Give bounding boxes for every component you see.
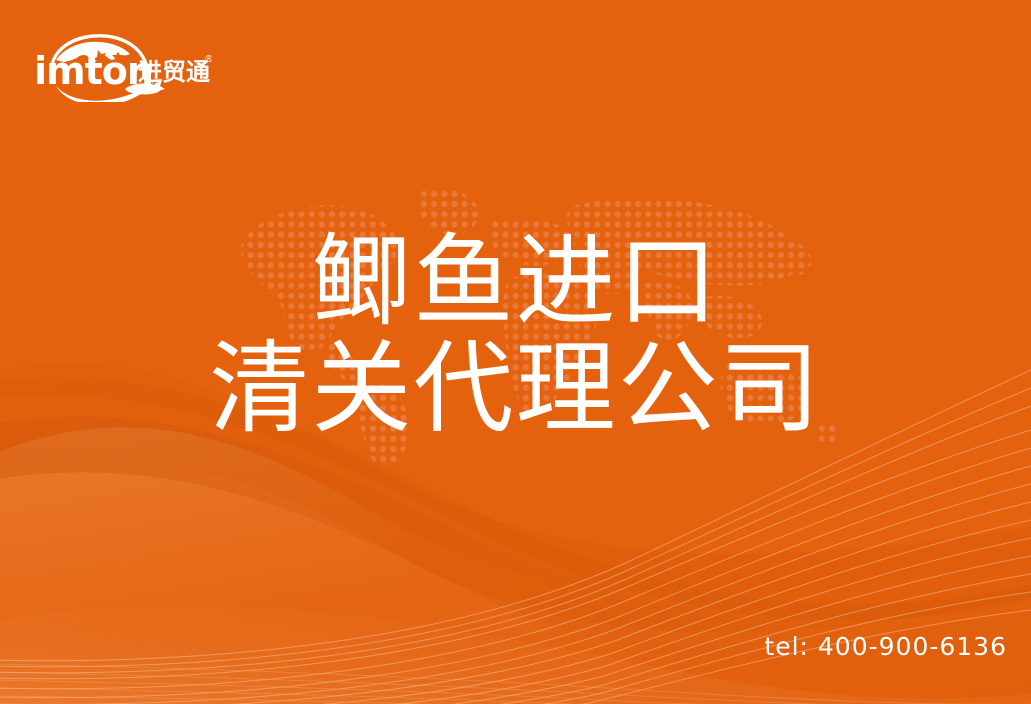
- registered-trademark-icon: ®: [204, 54, 212, 65]
- headline-line-2: 清关代理公司: [0, 335, 1031, 442]
- logo-wordmark: imton: [34, 49, 153, 93]
- headline-line-1: 鲫鱼进口: [0, 228, 1031, 335]
- company-logo[interactable]: imton 进贸通 ®: [34, 30, 212, 102]
- page-title: 鲫鱼进口 清关代理公司: [0, 228, 1031, 442]
- logo-chinese-name: 进贸通: [138, 58, 210, 86]
- contact-phone[interactable]: tel: 400-900-6136: [764, 632, 1007, 661]
- poster-banner: imton 进贸通 ® 鲫鱼进口 清关代理公司 tel: 400-900-613…: [0, 0, 1031, 704]
